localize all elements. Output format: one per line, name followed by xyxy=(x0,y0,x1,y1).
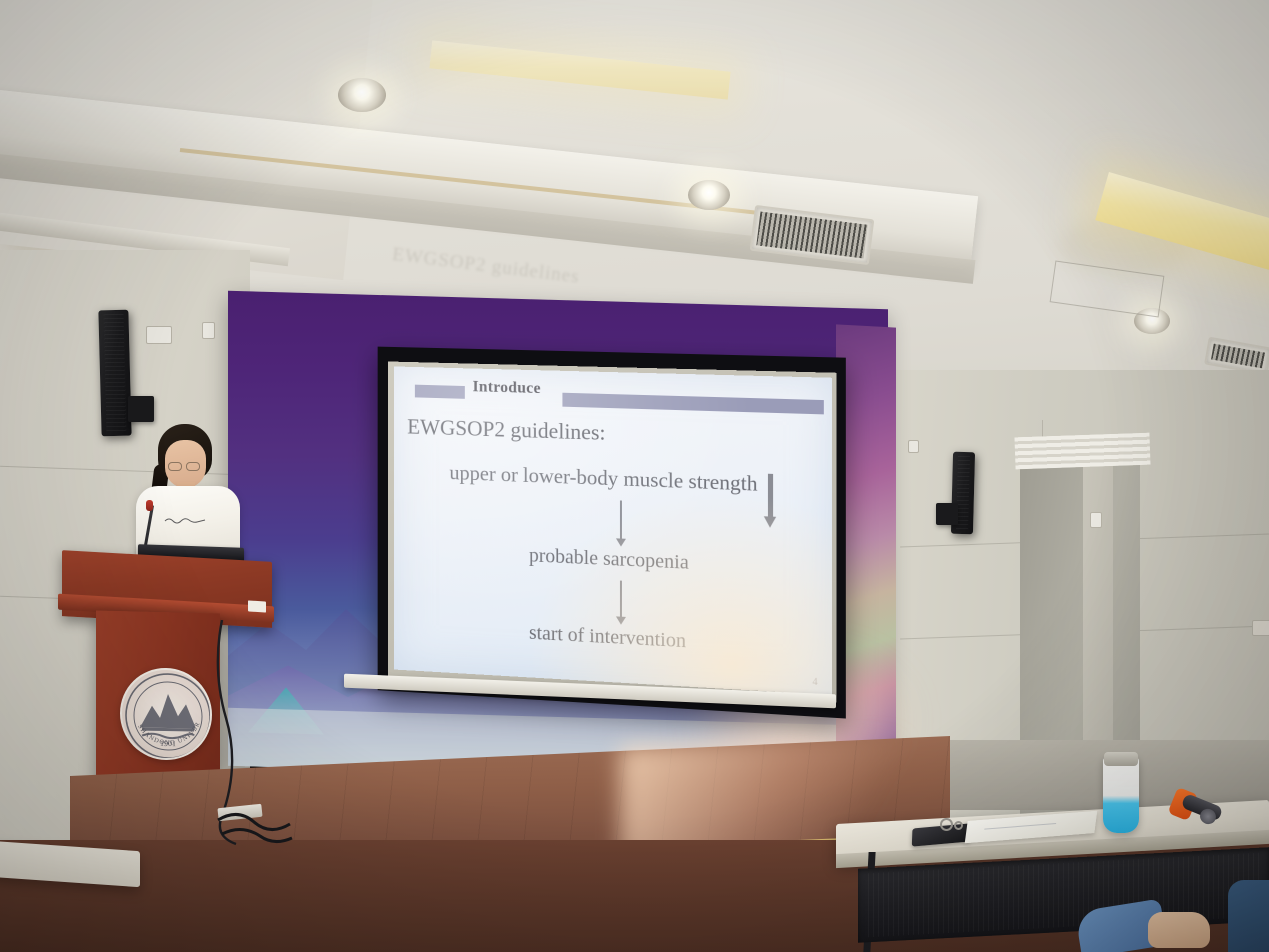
eyeglasses-right-icon xyxy=(186,462,200,471)
floor-cable-coil xyxy=(216,806,296,858)
slide-arrow-down-icon xyxy=(620,581,622,619)
speaker-bracket-right xyxy=(936,503,958,525)
presentation-slide: Introduce EWGSOP2 guidelines: upper or l… xyxy=(394,366,832,695)
slide-arrow-down-icon xyxy=(620,500,622,540)
microphone-head-icon xyxy=(146,500,153,511)
slide-header-title: Introduce xyxy=(473,378,541,398)
slide-arrow-decline-icon xyxy=(768,474,773,519)
wall-junction-box xyxy=(146,326,172,344)
slide-accent-bar-left xyxy=(415,385,465,399)
keyring-icon xyxy=(940,818,953,831)
speaker-bracket-left xyxy=(128,396,154,422)
water-bottle[interactable] xyxy=(1103,755,1139,833)
hvac-slats xyxy=(756,212,867,259)
slide-line-muscle-strength: upper or lower-body muscle strength xyxy=(449,460,757,496)
downlight-ceiling-2 xyxy=(688,180,730,210)
slide-line-start-intervention: start of intervention xyxy=(529,622,686,653)
wall-sensor-right xyxy=(1090,512,1102,528)
projection-screen[interactable]: Introduce EWGSOP2 guidelines: upper or l… xyxy=(394,366,832,695)
audience-member-shoulder xyxy=(1228,880,1269,952)
presenter-face xyxy=(165,440,206,488)
hvac-slats xyxy=(1211,344,1265,369)
water-bottle-cap[interactable] xyxy=(1104,752,1138,766)
shirt-print-graphic xyxy=(164,516,210,524)
speaker-grille xyxy=(103,314,126,432)
wall-speaker-left xyxy=(98,310,131,437)
wall-sensor-box xyxy=(202,322,215,339)
downlight-ceiling-1 xyxy=(338,78,386,112)
slide-line-probable-sarcopenia: probable sarcopenia xyxy=(529,545,689,575)
door-light-valance xyxy=(1014,433,1150,470)
slide-accent-bar-right xyxy=(562,393,823,415)
wall-camera-box xyxy=(908,440,919,453)
slide-number: 4 xyxy=(812,677,817,689)
podium-label-tag xyxy=(248,600,266,612)
eyeglasses-left-icon xyxy=(168,462,182,471)
wall-outlet[interactable] xyxy=(1252,620,1269,636)
speaker-grille xyxy=(956,456,970,530)
slide-line-guidelines: EWGSOP2 guidelines: xyxy=(407,414,605,446)
audience-member-hand xyxy=(1148,912,1210,948)
keyring-icon xyxy=(954,821,963,830)
lecture-hall-photo: EWGSOP2 guidelines xyxy=(0,0,1269,952)
